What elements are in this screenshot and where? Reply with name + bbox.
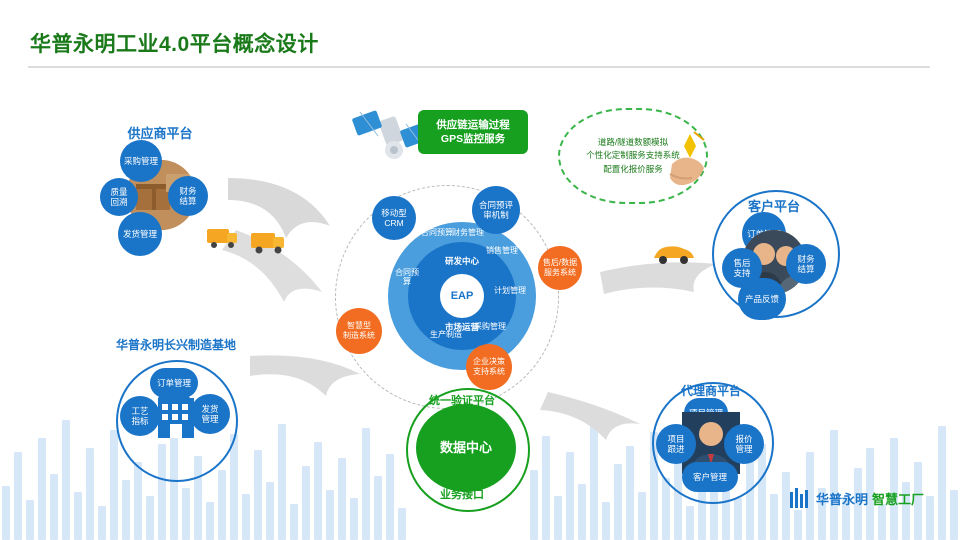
factory-node-shipping-label: 发货 管理 [201,404,218,424]
agent-node-followup-label: 项目 跟进 [667,434,684,454]
center-outer-item-contract2[interactable]: 合同预算 [392,268,422,286]
center-inner-item-rd[interactable]: 研发中心 [428,256,496,266]
center-tag-contract-review[interactable]: 合同预评 审机制 [472,186,520,234]
data-center-node[interactable]: 数据中心 [416,404,516,492]
huapu-logo-icon [790,488,812,508]
customer-node-finance-label: 财务 结算 [797,254,814,274]
supplier-node-quality-label: 质量 回溯 [110,187,127,207]
gps-banner-line2: GPS监控服务 [441,132,505,146]
center-tag-aftersales-data-label: 售后/数据 服务系统 [543,258,577,277]
supplier-platform-title: 供应商平台 [104,123,216,142]
center-tag-aftersales-data[interactable]: 售后/数据 服务系统 [538,246,582,290]
agent-node-quote-label: 报价 管理 [735,434,752,454]
agent-node-customer[interactable]: 客户管理 [682,462,738,492]
center-tag-decision-support-label: 企业决策 支持系统 [473,357,505,376]
data-center-label: 数据中心 [440,440,492,456]
center-outer-item-contract2-label: 合同预算 [395,268,419,286]
center-tag-mobile-crm-label: 移动型 CRM [381,208,407,228]
agent-node-followup[interactable]: 项目 跟进 [656,424,696,464]
center-core-label: EAP [451,290,474,302]
hand-bulb-icon [660,130,716,192]
agent-platform-title: 代理商平台 [654,382,768,399]
supplier-node-quality[interactable]: 质量 回溯 [100,178,138,216]
gps-banner-line1: 供应链运输过程 [436,118,510,132]
supplier-node-finance-label: 财务 结算 [179,186,196,206]
customer-node-finance[interactable]: 财务 结算 [786,244,826,284]
customer-node-support-label: 售后 支持 [733,258,750,278]
footer-logo: 华普永明 智慧工厂 [790,488,924,508]
gps-service-banner[interactable]: 供应链运输过程 GPS监控服务 [418,110,528,154]
center-outer-item-sales-label: 销售管理 [486,246,518,255]
customer-node-feedback-label: 产品反馈 [745,294,779,304]
center-outer-item-plan[interactable]: 计划管理 [494,286,526,295]
center-outer-item-contract-label: 合同预算 [421,228,453,237]
center-inner-item-market-label: 市场运营 [445,322,479,332]
center-inner-item-rd-label: 研发中心 [445,256,479,266]
customer-node-feedback[interactable]: 产品反馈 [738,278,786,320]
supplier-node-shipping-label: 发货管理 [123,229,157,239]
car-icon [650,238,698,268]
center-outer-item-finance-label: 财务管理 [452,228,484,237]
center-tag-smart-manufacturing[interactable]: 智慧型 制造系统 [336,308,382,354]
footer-brand-suffix: 智慧工厂 [872,489,924,508]
center-outer-item-plan-label: 计划管理 [494,286,526,295]
service-item-0: 道路/隧道数额模拟 [598,136,668,150]
supplier-node-procurement-label: 采购管理 [124,156,158,166]
customer-platform-title: 客户平台 [716,196,832,215]
supplier-node-finance[interactable]: 财务 结算 [168,176,208,216]
center-tag-mobile-crm[interactable]: 移动型 CRM [372,196,416,240]
supplier-node-shipping[interactable]: 发货管理 [118,212,162,256]
factory-node-shipping[interactable]: 发货 管理 [190,394,230,434]
center-tag-decision-support[interactable]: 企业决策 支持系统 [466,344,512,390]
factory-node-process[interactable]: 工艺 指标 [120,396,160,436]
data-center-bottom-label: 业务接口 [412,486,512,502]
center-tag-contract-review-label: 合同预评 审机制 [479,200,513,220]
center-outer-item-contract[interactable]: 合同预算 [420,228,454,237]
center-inner-item-market[interactable]: 市场运营 [428,322,496,332]
supplier-node-procurement[interactable]: 采购管理 [120,140,162,182]
service-item-2: 配置化报价服务 [603,163,663,177]
center-outer-item-finance[interactable]: 财务管理 [452,228,484,237]
agent-node-quote[interactable]: 报价 管理 [724,424,764,464]
center-tag-smart-manufacturing-label: 智慧型 制造系统 [343,321,375,340]
center-core-eap[interactable]: EAP [440,274,484,318]
agent-node-customer-label: 客户管理 [693,472,727,482]
factory-base-title: 华普永明长兴制造基地 [108,336,244,353]
factory-node-process-label: 工艺 指标 [131,406,148,426]
center-outer-item-sales[interactable]: 销售管理 [486,246,518,255]
footer-brand: 华普永明 [816,489,868,508]
truck-icons [205,215,305,261]
slide-canvas: 华普永明工业4.0平台概念设计 [0,0,960,540]
